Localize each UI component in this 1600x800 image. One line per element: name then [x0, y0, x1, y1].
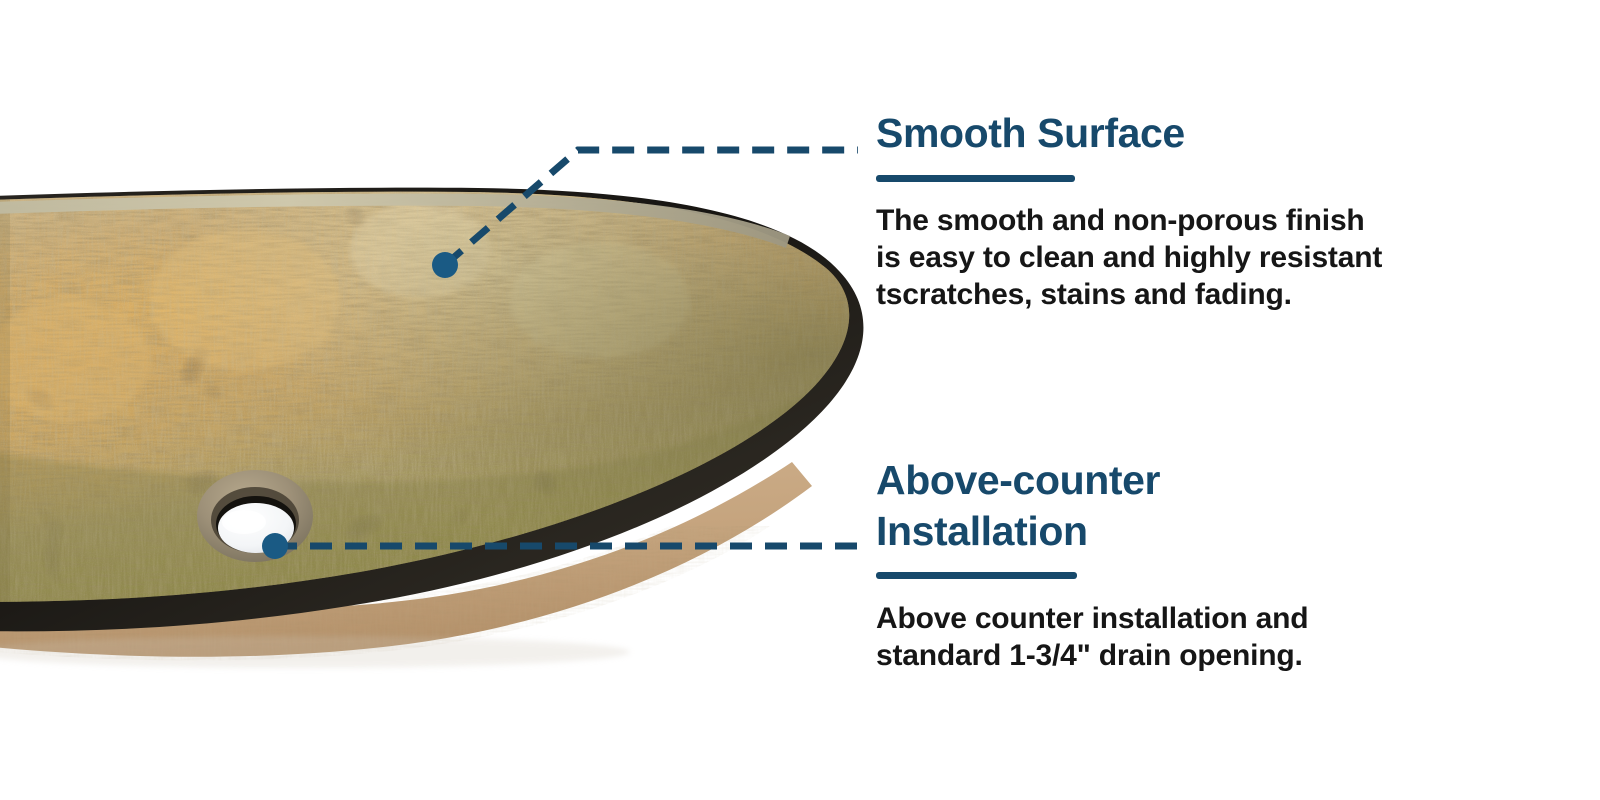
feature-block-above-counter: Above-counter Installation Above counter… — [876, 455, 1308, 674]
callout-dot-smooth-surface[interactable] — [432, 252, 458, 278]
feature-heading: Above-counter Installation — [876, 455, 1308, 557]
sink-shadow — [0, 636, 630, 668]
heading-underline — [876, 175, 1075, 182]
heading-underline — [876, 572, 1077, 579]
infographic-stage: Smooth Surface The smooth and non-porous… — [0, 0, 1600, 800]
callout-dot-above-counter[interactable] — [262, 533, 288, 559]
product-photo — [0, 0, 880, 800]
feature-body: The smooth and non-porous finish is easy… — [876, 202, 1382, 313]
feature-body: Above counter installation and standard … — [876, 600, 1308, 674]
feature-heading: Smooth Surface — [876, 108, 1382, 159]
feature-block-smooth-surface: Smooth Surface The smooth and non-porous… — [876, 108, 1382, 313]
sink-illustration — [0, 0, 880, 800]
sink-drain — [197, 470, 313, 562]
